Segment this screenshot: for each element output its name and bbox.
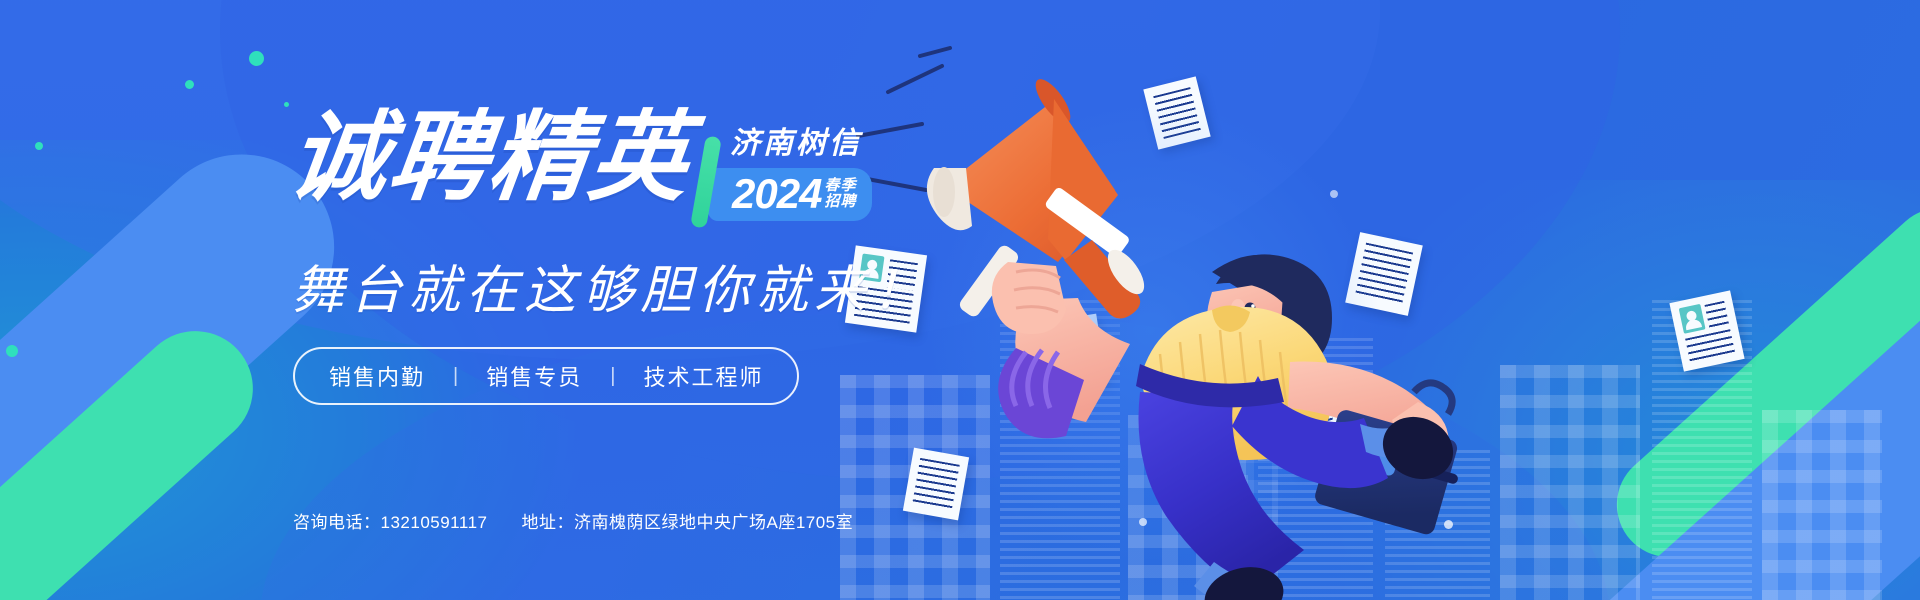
season-line-1: 春季 bbox=[824, 178, 856, 194]
season-label: 春季 招聘 bbox=[824, 178, 856, 210]
brand-name: 济南树信 bbox=[708, 118, 872, 162]
brand-badge-group: 济南树信 2024 春季 招聘 bbox=[708, 108, 872, 221]
job-position-2[interactable]: 销售专员 bbox=[486, 360, 582, 392]
page-title: 诚聘精英 bbox=[284, 108, 696, 206]
banner-content: 诚聘精英 济南树信 2024 春季 招聘 舞台就在这够胆你就来！ 销售内勤 | … bbox=[0, 0, 1000, 600]
job-separator: | bbox=[453, 365, 458, 388]
contact-address: 地址：济南槐荫区绿地中央广场A座1705室 bbox=[521, 508, 853, 533]
headline-row: 诚聘精英 济南树信 2024 春季 招聘 bbox=[290, 108, 872, 221]
year-label: 2024 bbox=[732, 173, 821, 215]
season-line-2: 招聘 bbox=[824, 194, 856, 210]
job-separator: | bbox=[610, 365, 615, 388]
job-positions-pill[interactable]: 销售内勤 | 销售专员 | 技术工程师 bbox=[293, 347, 799, 405]
contact-phone: 咨询电话：13210591117 bbox=[293, 508, 487, 533]
job-position-1[interactable]: 销售内勤 bbox=[329, 360, 425, 392]
building bbox=[1762, 410, 1882, 600]
year-badge: 2024 春季 招聘 bbox=[708, 168, 872, 221]
recruitment-banner: 诚聘精英 济南树信 2024 春季 招聘 舞台就在这够胆你就来！ 销售内勤 | … bbox=[0, 0, 1920, 600]
contact-info: 咨询电话：13210591117 地址：济南槐荫区绿地中央广场A座1705室 bbox=[293, 508, 853, 533]
page-subtitle: 舞台就在这够胆你就来！ bbox=[292, 248, 930, 323]
job-position-3[interactable]: 技术工程师 bbox=[643, 360, 763, 392]
